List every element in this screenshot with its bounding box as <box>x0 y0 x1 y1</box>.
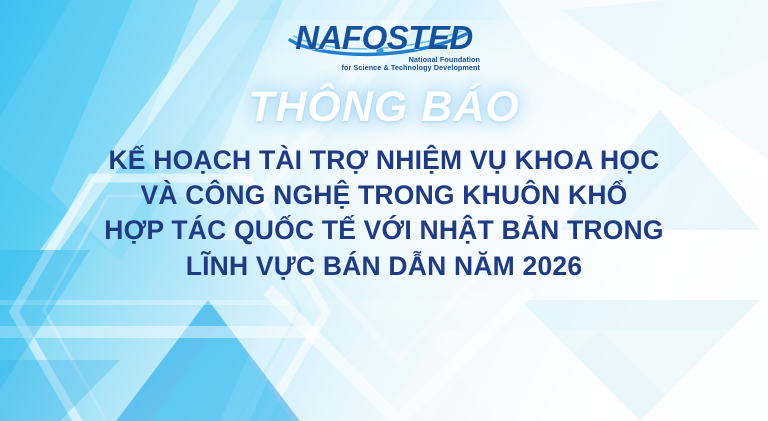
logo-tagline: National Foundation for Science & Techno… <box>284 56 484 72</box>
banner-content: NAFOSTED National Foundation for Science… <box>0 0 768 421</box>
logo-mark: NAFOSTED <box>284 18 484 58</box>
subheading-block: KẾ HOẠCH TÀI TRỢ NHIỆM VỤ KHOA HỌC VÀ CÔ… <box>104 143 663 284</box>
headline-thong-bao: THÔNG BÁO <box>248 86 520 129</box>
subheading-line-4: LĨNH VỰC BÁN DẪN NĂM 2026 <box>104 249 663 284</box>
subheading-line-3: HỢP TÁC QUỐC TẾ VỚI NHẬT BẢN TRONG <box>104 213 663 248</box>
subheading-line-2: VÀ CÔNG NGHỆ TRONG KHUÔN KHỔ <box>104 178 663 213</box>
nafosted-logo: NAFOSTED National Foundation for Science… <box>284 18 484 78</box>
subheading-line-1: KẾ HOẠCH TÀI TRỢ NHIỆM VỤ KHOA HỌC <box>104 143 663 178</box>
logo-tagline-line2: for Science & Technology Development <box>284 64 480 72</box>
logo-wordmark: NAFOSTED <box>284 18 484 58</box>
announcement-banner: NAFOSTED National Foundation for Science… <box>0 0 768 421</box>
